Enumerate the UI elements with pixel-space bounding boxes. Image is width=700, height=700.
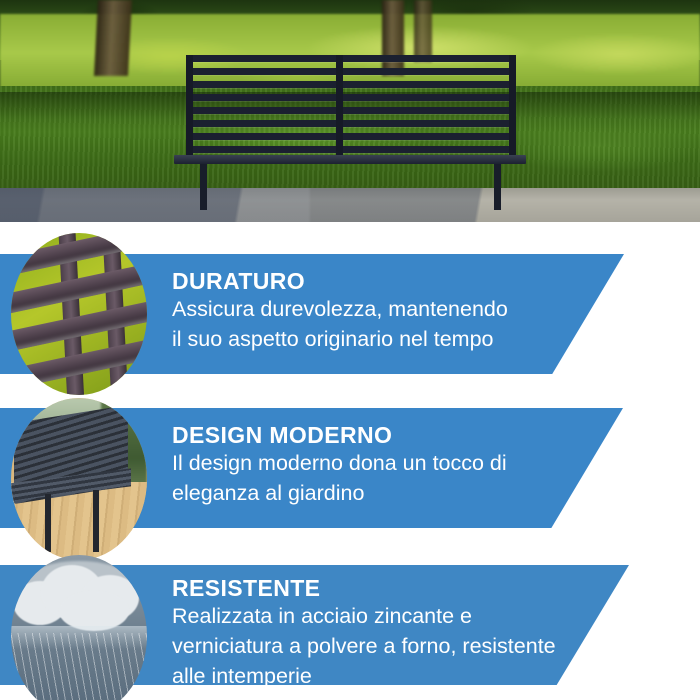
bench-leg: [200, 164, 207, 210]
bench-slat: [186, 107, 516, 114]
tree-trunk: [414, 0, 432, 62]
feature-title: RESISTENTE: [172, 575, 602, 601]
bench-post: [336, 55, 343, 155]
tree-trunk: [94, 0, 132, 76]
feature-description-line: Assicura durevolezza, mantenendo: [172, 294, 602, 324]
feature-title: DURATURO: [172, 268, 602, 294]
bench-slat: [186, 68, 516, 75]
feature-description-line: Il design moderno dona un tocco di: [172, 448, 602, 478]
bench-slat: [186, 94, 516, 101]
feature-text-design-moderno: DESIGN MODERNO Il design moderno dona un…: [172, 422, 602, 508]
bench-leg-thumb: [93, 490, 99, 552]
feature-description: Assicura durevolezza, mantenendo il suo …: [172, 294, 602, 354]
bench-leg: [494, 164, 501, 210]
bench-slat: [186, 146, 516, 153]
rain-streaks: [11, 633, 147, 700]
feature-text-resistente: RESISTENTE Realizzata in acciaio zincant…: [172, 575, 602, 691]
feature-title: DESIGN MODERNO: [172, 422, 602, 448]
feature-text-duraturo: DURATURO Assicura durevolezza, mantenend…: [172, 268, 602, 354]
feature-block-design-moderno: DESIGN MODERNO Il design moderno dona un…: [0, 408, 700, 528]
feature-description-line: verniciatura a polvere a forno, resisten…: [172, 631, 602, 661]
bench-slat: [186, 133, 516, 140]
bench-post: [186, 55, 193, 155]
bench-slat: [186, 55, 516, 62]
cloud: [59, 591, 129, 631]
bench-post: [509, 55, 516, 155]
feature-description: Realizzata in acciaio zincante e vernici…: [172, 601, 602, 691]
feature-block-duraturo: DURATURO Assicura durevolezza, mantenend…: [0, 254, 700, 379]
feature-description-line: alle intemperie: [172, 661, 602, 691]
slats-closeup-image: [11, 233, 147, 395]
feature-thumbnail-duraturo: [11, 233, 147, 395]
hero-product-photo: [0, 0, 700, 222]
bench-slat: [186, 81, 516, 88]
bench-seat: [174, 155, 526, 164]
bench-on-deck-image: [11, 398, 147, 560]
feature-thumbnail-design-moderno: [11, 398, 147, 560]
feature-description-line: il suo aspetto originario nel tempo: [172, 324, 602, 354]
feature-description-line: eleganza al giardino: [172, 478, 602, 508]
bench-leg-thumb: [45, 494, 51, 552]
feature-thumbnail-resistente: [11, 555, 147, 700]
feature-description-line: Realizzata in acciaio zincante e: [172, 601, 602, 631]
bench-slat: [186, 120, 516, 127]
product-infographic: DURATURO Assicura durevolezza, mantenend…: [0, 0, 700, 700]
storm-rain-image: [11, 555, 147, 700]
garden-bench: [186, 55, 516, 207]
feature-description: Il design moderno dona un tocco di elega…: [172, 448, 602, 508]
bench-backrest: [186, 55, 516, 151]
feature-block-resistente: RESISTENTE Realizzata in acciaio zincant…: [0, 565, 700, 685]
